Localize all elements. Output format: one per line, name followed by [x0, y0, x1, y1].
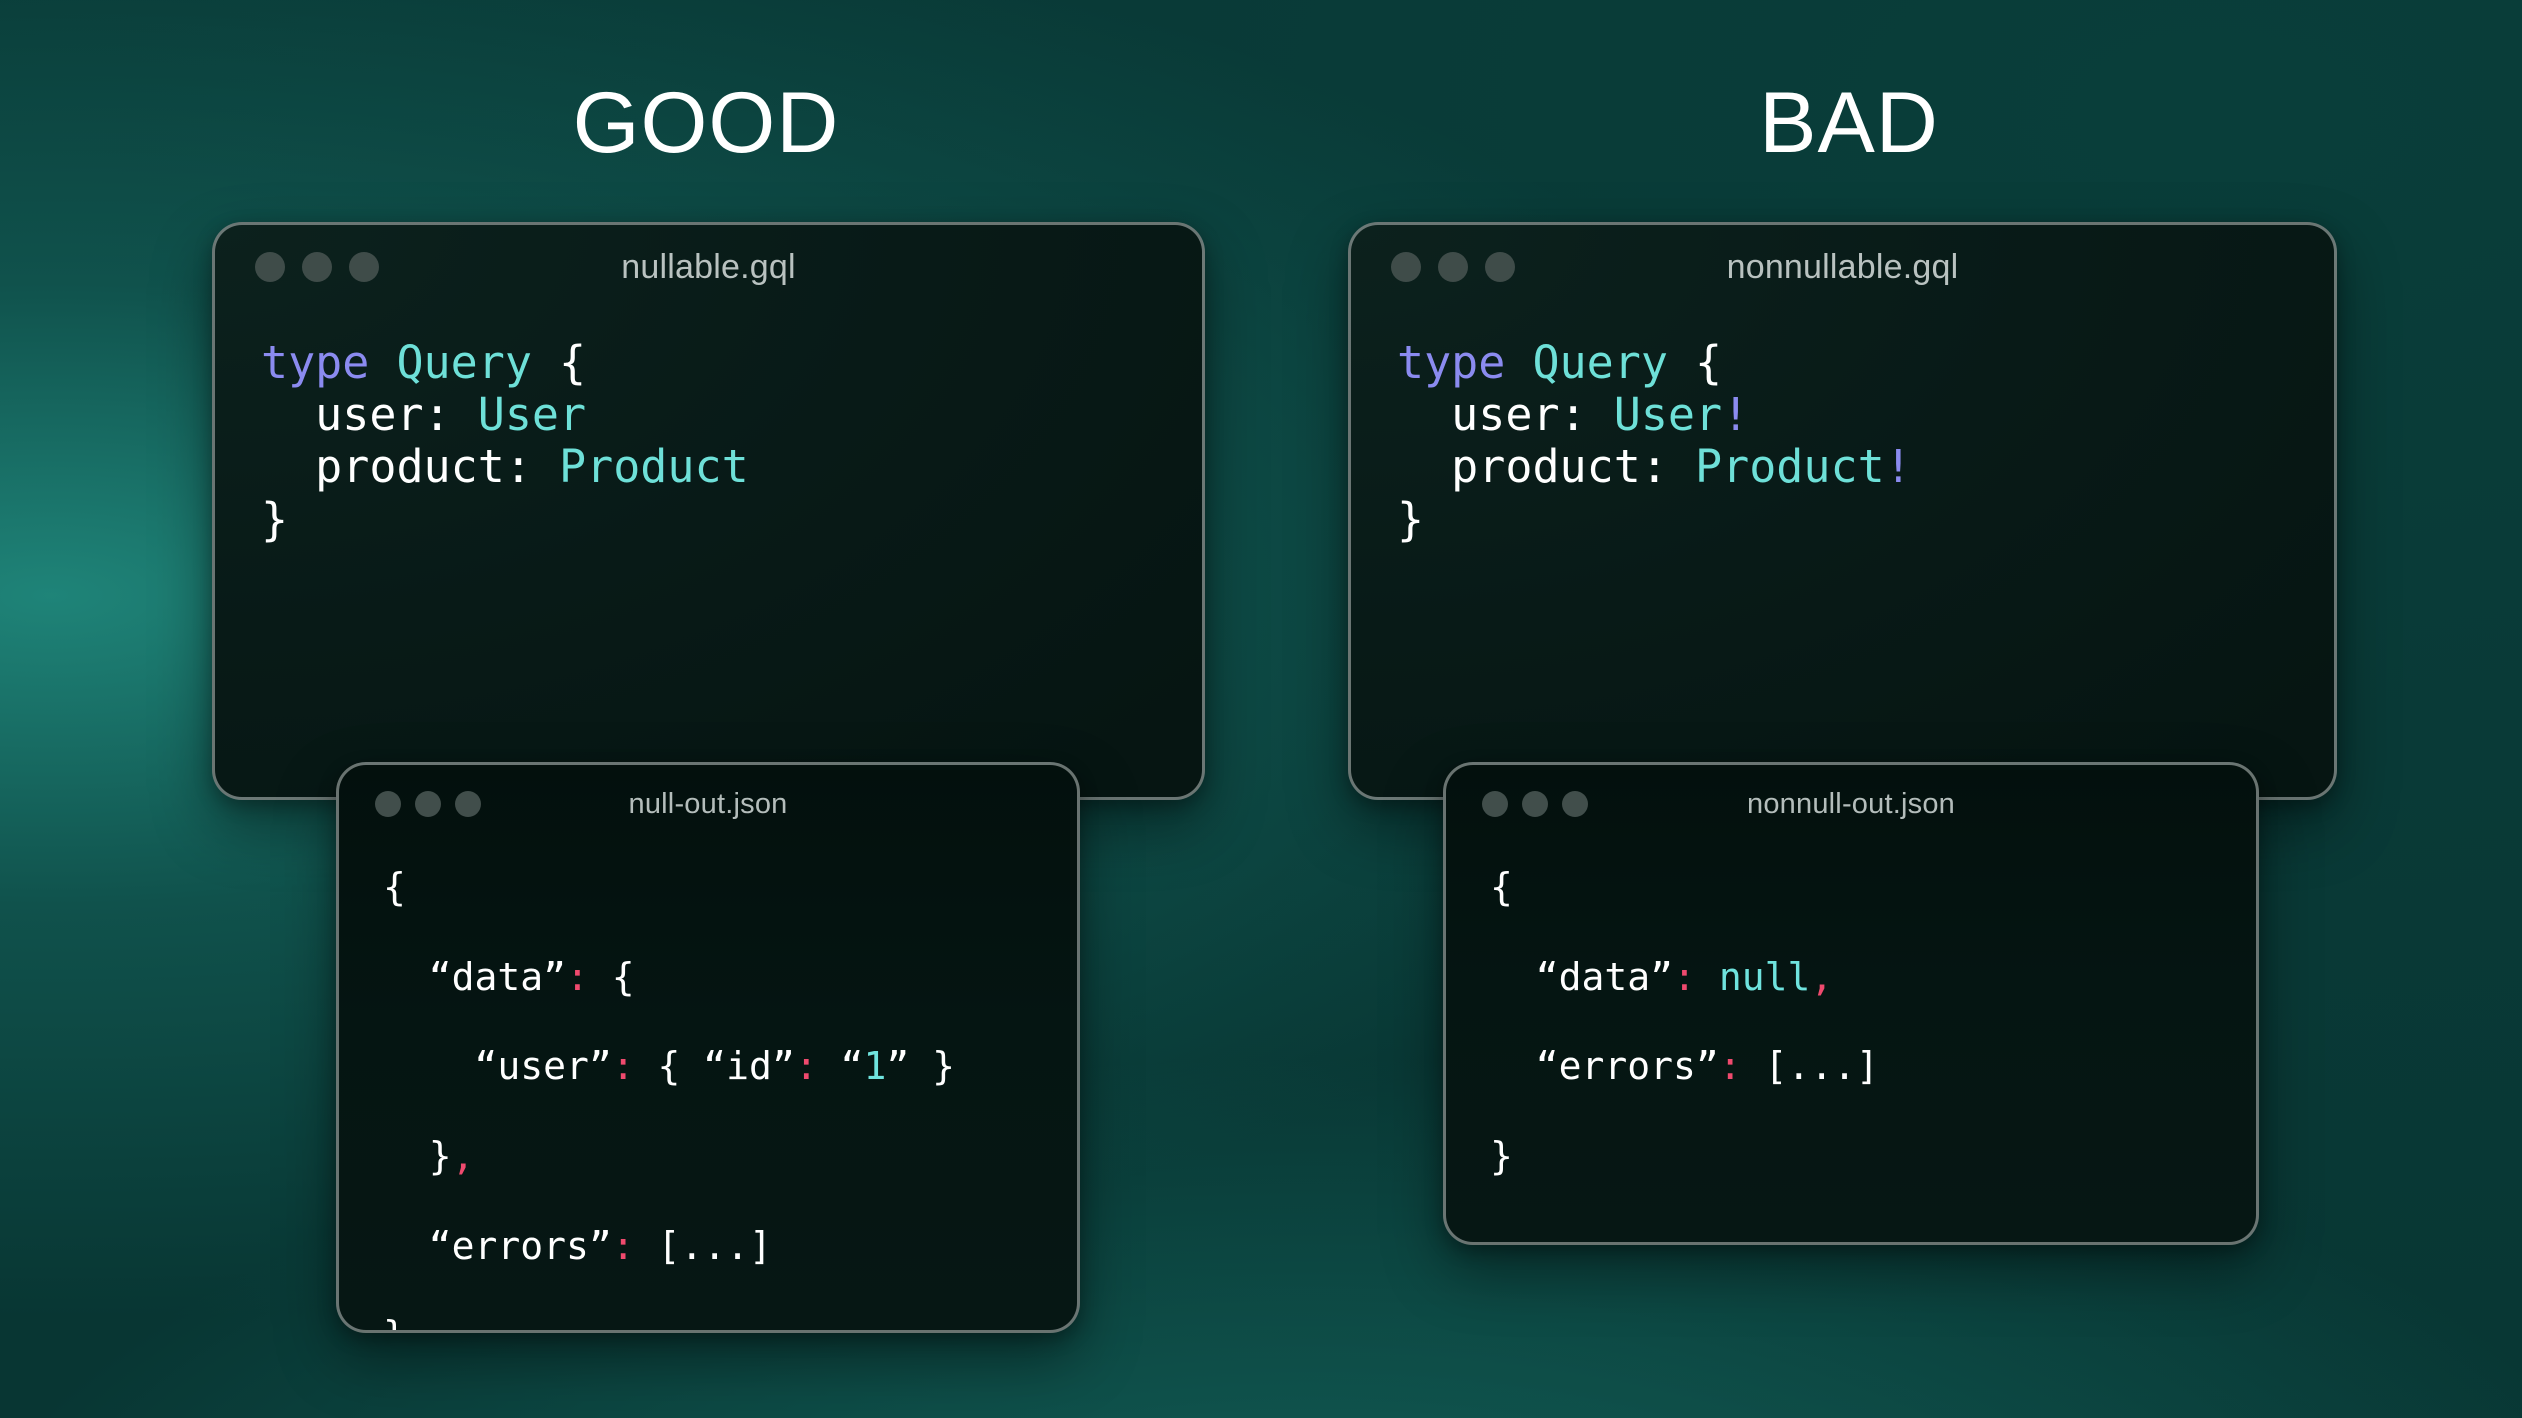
code-token: type	[1397, 336, 1505, 389]
code-token: }	[261, 493, 288, 546]
code-token: ” }	[886, 1044, 955, 1088]
column-heading-good: GOOD	[573, 80, 840, 166]
schema-code-bad: type Query { user: User! product: Produc…	[1351, 309, 2334, 546]
code-token: ,	[1810, 955, 1833, 999]
code-token	[1696, 955, 1719, 999]
window-titlebar: nonnull-out.json	[1446, 765, 2256, 843]
code-line: {	[1490, 865, 2256, 910]
code-token: :	[795, 1044, 818, 1088]
code-token: }	[383, 1313, 406, 1333]
minimize-dot[interactable]	[302, 252, 332, 282]
code-token: Product	[1695, 440, 1885, 493]
close-dot[interactable]	[1391, 252, 1421, 282]
traffic-light-dots	[375, 791, 481, 817]
code-token: :	[612, 1044, 635, 1088]
window-titlebar: nullable.gql	[215, 225, 1202, 309]
column-heading-bad: BAD	[1759, 80, 1939, 166]
code-token: Product	[559, 440, 749, 493]
code-token: }	[383, 1134, 452, 1178]
code-token: :	[505, 440, 559, 493]
code-token: “errors”	[1490, 1044, 1719, 1088]
close-dot[interactable]	[255, 252, 285, 282]
code-token: {	[589, 955, 635, 999]
code-token: Query	[1532, 336, 1667, 389]
minimize-dot[interactable]	[1522, 791, 1548, 817]
code-token: :	[1719, 1044, 1742, 1088]
schema-window-good[interactable]: nullable.gql type Query { user: User pro…	[212, 222, 1205, 800]
code-line: {	[383, 865, 1077, 910]
window-titlebar: nonnullable.gql	[1351, 225, 2334, 309]
code-token: {	[383, 865, 406, 909]
code-token: !	[1722, 388, 1749, 441]
code-token: “data”	[1490, 955, 1673, 999]
code-token: product	[1397, 440, 1641, 493]
code-token: User	[478, 388, 586, 441]
code-line: product: Product!	[1397, 440, 1912, 493]
code-token: }	[1490, 1134, 1513, 1178]
comparison-figure: GOOD nullable.gql type Query { user: Use…	[0, 0, 2522, 1418]
code-token: }	[1397, 493, 1424, 546]
code-token: “data”	[383, 955, 566, 999]
code-token: {	[1490, 865, 1513, 909]
maximize-dot[interactable]	[455, 791, 481, 817]
code-token: product	[261, 440, 505, 493]
code-token: :	[424, 388, 478, 441]
code-token: type	[261, 336, 369, 389]
code-token: {	[1668, 336, 1722, 389]
minimize-dot[interactable]	[415, 791, 441, 817]
code-token: !	[1885, 440, 1912, 493]
code-token: 1	[863, 1044, 886, 1088]
code-line: product: Product	[261, 440, 749, 493]
window-titlebar: null-out.json	[339, 765, 1077, 843]
code-token: :	[1641, 440, 1695, 493]
code-line: user: User!	[1397, 388, 1749, 441]
code-line: “user”: { “id”: “1” }	[383, 1044, 1077, 1089]
code-line: },	[383, 1134, 1077, 1179]
code-token: Query	[396, 336, 531, 389]
code-token: [...]	[1742, 1044, 1879, 1088]
code-token: “	[818, 1044, 864, 1088]
code-token: user	[1397, 388, 1560, 441]
code-line: }	[1490, 1134, 2256, 1179]
code-line: }	[261, 493, 288, 546]
code-token: ,	[452, 1134, 475, 1178]
code-token	[1505, 336, 1532, 389]
output-window-good[interactable]: null-out.json { “data”: { “user”: { “id”…	[336, 762, 1080, 1333]
minimize-dot[interactable]	[1438, 252, 1468, 282]
code-line: “errors”: [...]	[1490, 1044, 2256, 1089]
schema-code-good: type Query { user: User product: Product…	[215, 309, 1202, 546]
code-token: null	[1719, 955, 1811, 999]
close-dot[interactable]	[375, 791, 401, 817]
maximize-dot[interactable]	[1485, 252, 1515, 282]
code-token: :	[1673, 955, 1696, 999]
code-line: type Query {	[261, 336, 586, 389]
maximize-dot[interactable]	[349, 252, 379, 282]
traffic-light-dots	[1391, 252, 1515, 282]
output-json-good: { “data”: { “user”: { “id”: “1” } }, “er…	[339, 843, 1077, 1333]
close-dot[interactable]	[1482, 791, 1508, 817]
code-token: {	[532, 336, 586, 389]
output-json-bad: { “data”: null, “errors”: [...] }	[1446, 843, 2256, 1179]
code-token: User	[1614, 388, 1722, 441]
code-line: user: User	[261, 388, 586, 441]
code-token: :	[1560, 388, 1614, 441]
code-token: “user”	[383, 1044, 612, 1088]
traffic-light-dots	[255, 252, 379, 282]
code-token: :	[612, 1224, 635, 1268]
code-token: [...]	[635, 1224, 772, 1268]
code-token: user	[261, 388, 424, 441]
code-line: }	[383, 1313, 1077, 1333]
maximize-dot[interactable]	[1562, 791, 1588, 817]
code-token: { “id”	[635, 1044, 795, 1088]
code-line: “data”: {	[383, 955, 1077, 1000]
code-line: “errors”: [...]	[383, 1224, 1077, 1269]
code-token	[369, 336, 396, 389]
traffic-light-dots	[1482, 791, 1588, 817]
code-line: }	[1397, 493, 1424, 546]
output-window-bad[interactable]: nonnull-out.json { “data”: null, “errors…	[1443, 762, 2259, 1245]
code-token: “errors”	[383, 1224, 612, 1268]
code-token: :	[566, 955, 589, 999]
code-line: type Query {	[1397, 336, 1722, 389]
schema-window-bad[interactable]: nonnullable.gql type Query { user: User!…	[1348, 222, 2337, 800]
code-line: “data”: null,	[1490, 955, 2256, 1000]
